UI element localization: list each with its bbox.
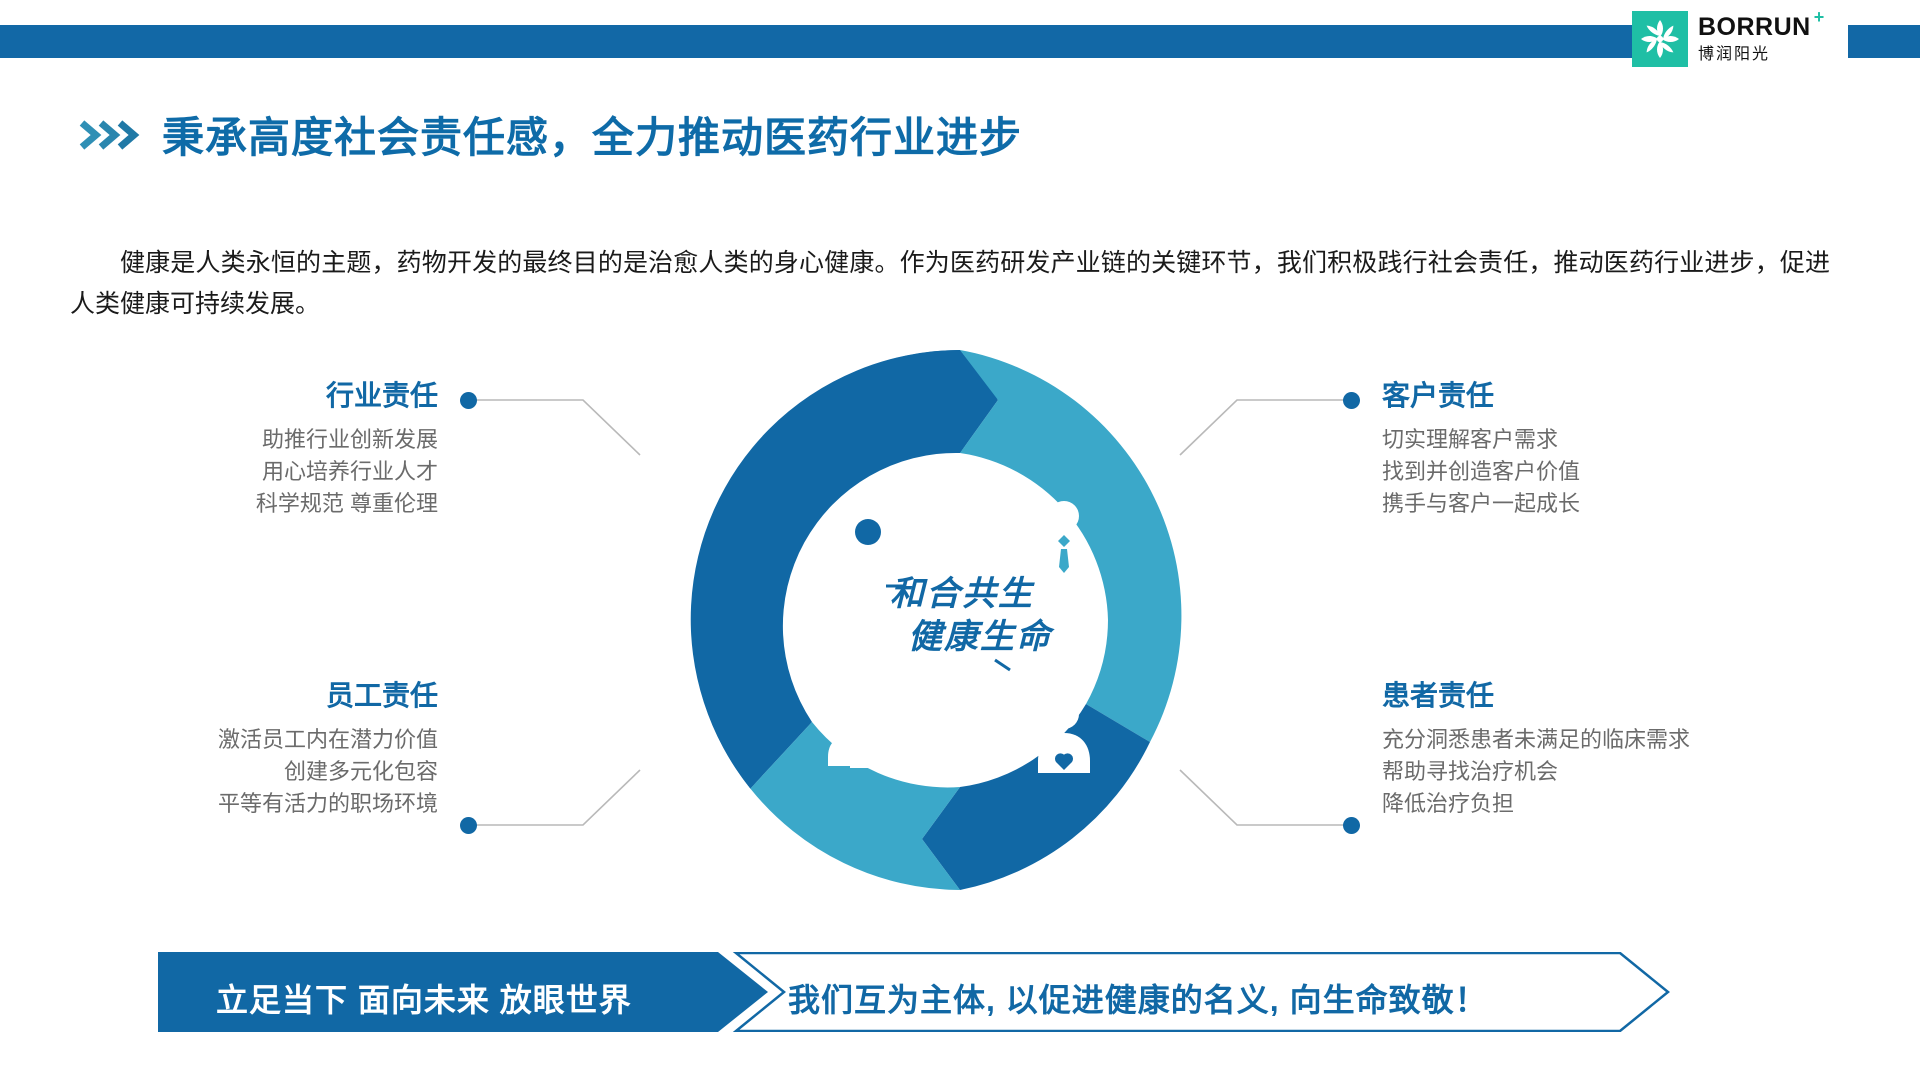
bullet-dot-employee: [460, 817, 477, 834]
responsibility-line: 创建多元化包容: [118, 756, 438, 788]
borrun-pinwheel-icon: [1632, 11, 1688, 67]
banner-left-text: 立足当下 面向未来 放眼世界: [216, 975, 632, 1021]
slide-canvas: BORRUN + 博润阳光 秉承高度社会责任感，全力推动医药行业进步 健康是人类…: [0, 0, 1920, 1080]
page-title: 秉承高度社会责任感，全力推动医药行业进步: [162, 104, 1022, 165]
bullet-dot-customer: [1343, 392, 1360, 409]
responsibility-block-patient: 患者责任 充分洞悉患者未满足的临床需求 帮助寻找治疗机会 降低治疗负担: [1382, 682, 1842, 820]
responsibility-block-employee: 员工责任 激活员工内在潜力价值 创建多元化包容 平等有活力的职场环境: [118, 682, 438, 820]
header-band-right: [1843, 25, 1920, 58]
responsibility-line: 找到并创造客户价值: [1382, 456, 1762, 488]
triple-chevron-right-icon: [78, 115, 140, 155]
brand-logo: BORRUN + 博润阳光: [1632, 8, 1848, 70]
responsibility-line: 助推行业创新发展: [148, 424, 438, 456]
bullet-dot-industry: [460, 392, 477, 409]
logo-wordmark-text: BORRUN: [1698, 13, 1811, 41]
responsibility-line: 充分洞悉患者未满足的临床需求: [1382, 724, 1842, 756]
center-slogan-line1: 和合共生: [890, 574, 1035, 614]
responsibility-line: 携手与客户一起成长: [1382, 488, 1762, 520]
responsibility-line: 科学规范 尊重伦理: [148, 488, 438, 520]
responsibility-title-customer: 客户责任: [1382, 382, 1762, 410]
intro-paragraph: 健康是人类永恒的主题，药物开发的最终目的是治愈人类的身心健康。作为医药研发产业链…: [70, 243, 1830, 324]
responsibility-block-customer: 客户责任 切实理解客户需求 找到并创造客户价值 携手与客户一起成长: [1382, 382, 1762, 520]
responsibility-line: 降低治疗负担: [1382, 788, 1842, 820]
responsibility-line: 帮助寻找治疗机会: [1382, 756, 1842, 788]
logo-plus-mark: +: [1814, 8, 1825, 26]
responsibility-block-industry: 行业责任 助推行业创新发展 用心培养行业人才 科学规范 尊重伦理: [148, 382, 438, 520]
responsibility-title-industry: 行业责任: [148, 382, 438, 410]
responsibility-wheel: 和合共生 健康生命: [690, 350, 1230, 890]
page-title-row: 秉承高度社会责任感，全力推动医药行业进步: [78, 104, 1022, 165]
wheel-center-slogan: 和合共生 健康生命: [886, 574, 1055, 670]
responsibility-title-employee: 员工责任: [118, 682, 438, 710]
center-slogan-line2: 健康生命: [908, 617, 1055, 657]
responsibility-title-patient: 患者责任: [1382, 682, 1842, 710]
header-band-left: [0, 25, 1650, 58]
responsibility-line: 平等有活力的职场环境: [118, 788, 438, 820]
logo-chinese-name: 博润阳光: [1698, 47, 1811, 63]
responsibility-line: 用心培养行业人才: [148, 456, 438, 488]
responsibility-line: 激活员工内在潜力价值: [118, 724, 438, 756]
bullet-dot-patient: [1343, 817, 1360, 834]
responsibility-line: 切实理解客户需求: [1382, 424, 1762, 456]
banner-right-text: 我们互为主体, 以促进健康的名义, 向生命致敬！: [788, 975, 1488, 1021]
logo-wordmark: BORRUN +: [1698, 15, 1811, 40]
